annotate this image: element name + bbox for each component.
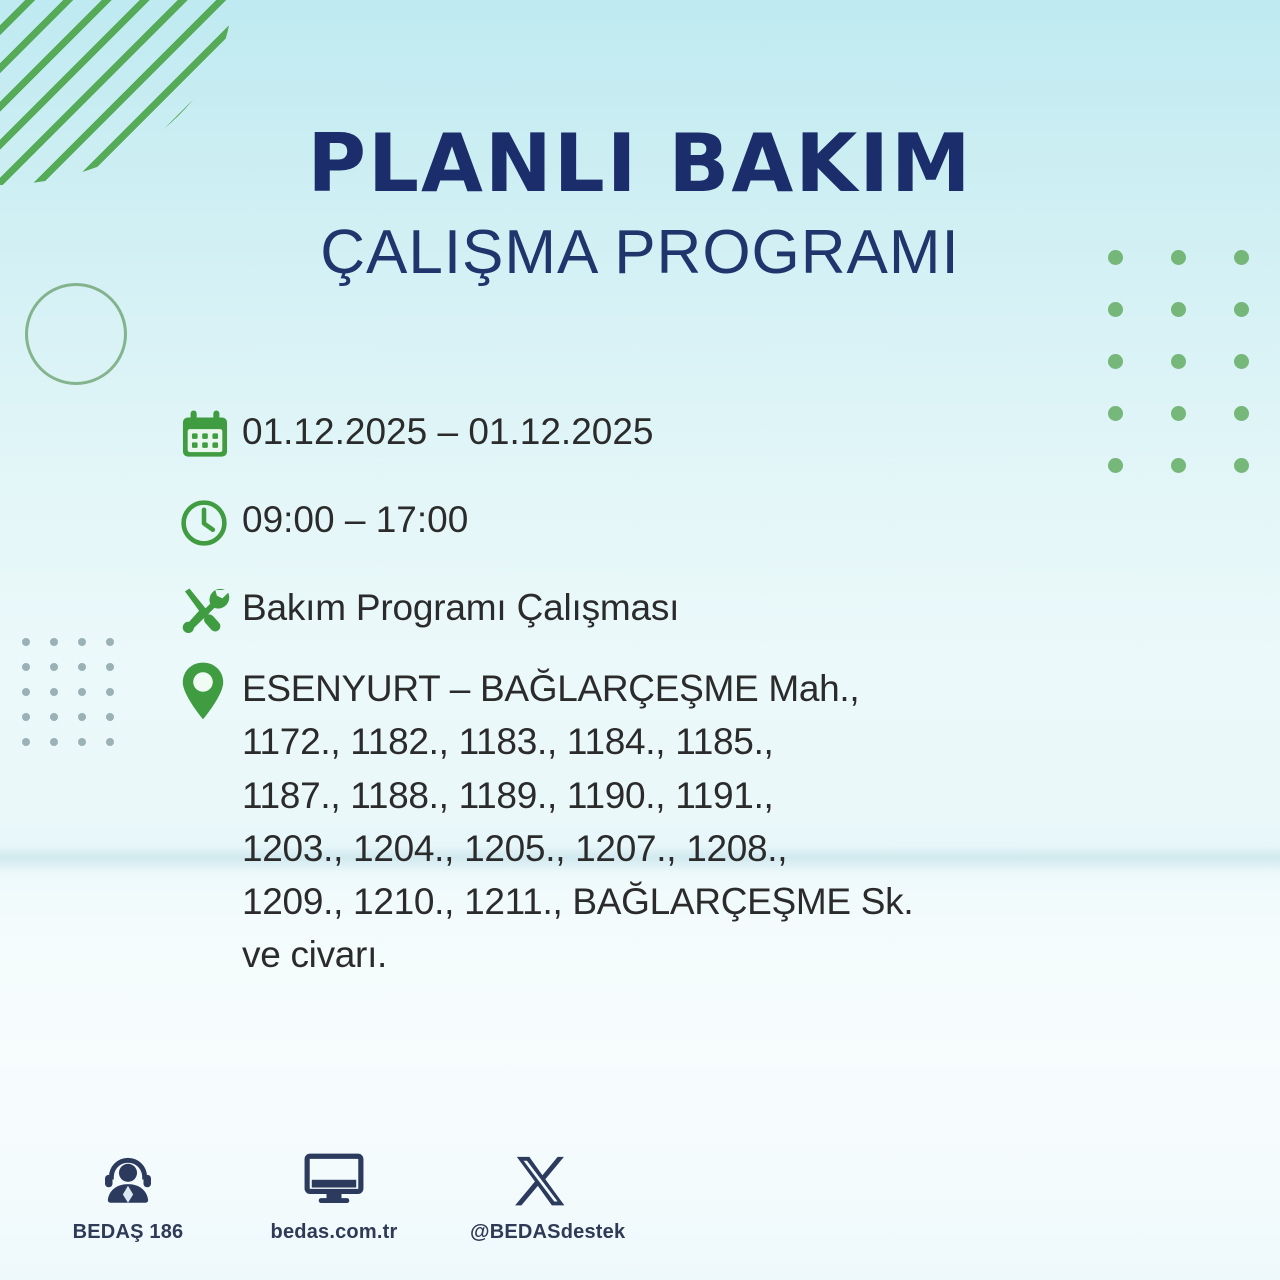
call-center-agent-icon (58, 1148, 198, 1210)
poster-header: PLANLI BAKIM ÇALIŞMA PROGRAMI (0, 124, 1280, 284)
tools-icon (178, 580, 242, 642)
x-twitter-icon (470, 1148, 610, 1210)
address-line: 1172., 1182., 1183., 1184., 1185., (242, 715, 913, 768)
address-line: 1203., 1204., 1205., 1207., 1208., (242, 822, 913, 875)
contact-phone[interactable]: BEDAŞ 186 (58, 1148, 198, 1244)
address-line: ESENYURT – BAĞLARÇEŞME Mah., (242, 662, 913, 715)
contact-x-label: @BEDASdestek (470, 1221, 610, 1244)
contact-bar: BEDAŞ 186 bedas.com.tr @BEDASdestek (58, 1148, 610, 1244)
info-row-time: 09:00 – 17:00 (178, 492, 1078, 554)
dot-grid-left-decoration (22, 638, 134, 763)
dot-grid-right-decoration (1108, 250, 1280, 510)
calendar-icon (178, 404, 242, 466)
contact-x-account[interactable]: @BEDASdestek (470, 1148, 610, 1244)
page-title: PLANLI BAKIM (0, 124, 1280, 204)
info-row-date: 01.12.2025 – 01.12.2025 (178, 404, 1078, 466)
maintenance-info-block: 01.12.2025 – 01.12.2025 09:00 – 17:00 (178, 404, 1078, 1008)
address-line: 1209., 1210., 1211., BAĞLARÇEŞME Sk. (242, 875, 913, 928)
date-range-text: 01.12.2025 – 01.12.2025 (242, 404, 654, 451)
clock-icon (178, 492, 242, 554)
address-line: ve civarı. (242, 928, 913, 981)
address-line: 1187., 1188., 1189., 1190., 1191., (242, 769, 913, 822)
info-row-address: ESENYURT – BAĞLARÇEŞME Mah., 1172., 1182… (178, 660, 1078, 982)
planned-maintenance-poster: PLANLI BAKIM ÇALIŞMA PROGRAMI 01 (0, 0, 1280, 1280)
time-range-text: 09:00 – 17:00 (242, 492, 468, 539)
contact-phone-label: BEDAŞ 186 (58, 1221, 198, 1244)
page-subtitle: ÇALIŞMA PROGRAMI (0, 222, 1280, 284)
monitor-icon (264, 1148, 404, 1210)
contact-website[interactable]: bedas.com.tr (264, 1148, 404, 1244)
work-type-text: Bakım Programı Çalışması (242, 580, 679, 627)
address-text: ESENYURT – BAĞLARÇEŞME Mah., 1172., 1182… (242, 660, 913, 982)
location-pin-icon (178, 660, 242, 722)
circle-outline-decoration (25, 283, 127, 385)
contact-website-label: bedas.com.tr (264, 1221, 404, 1244)
info-row-work-type: Bakım Programı Çalışması (178, 580, 1078, 642)
